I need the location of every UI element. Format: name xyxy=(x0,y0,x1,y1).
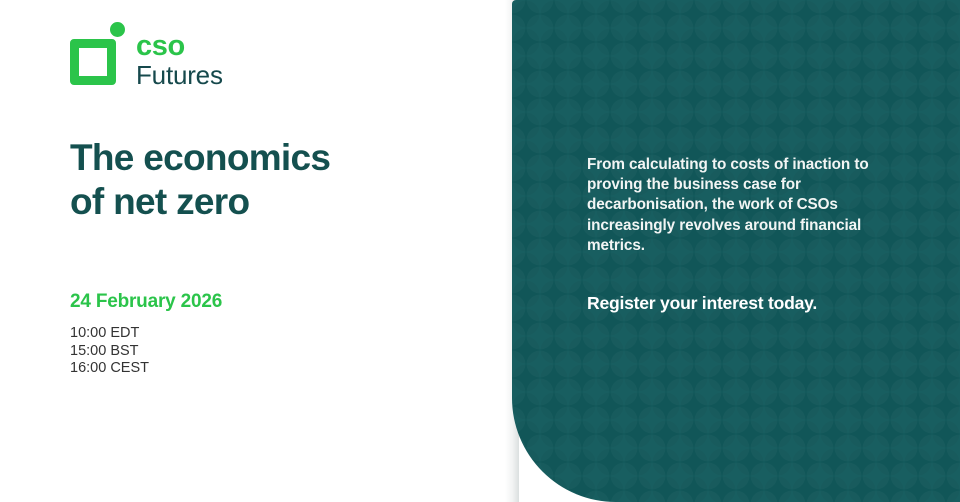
panel-body-text: From calculating to costs of inaction to… xyxy=(587,155,907,256)
webinar-promo-banner: cso Futures The economics of net zero 24… xyxy=(0,0,960,502)
event-times-list: 10:00 EDT 15:00 BST 16:00 CEST xyxy=(70,325,149,378)
panel-copy-block: From calculating to costs of inaction to… xyxy=(587,155,907,314)
event-date: 24 February 2026 xyxy=(70,291,222,313)
event-time-edt: 10:00 EDT xyxy=(70,325,149,343)
right-teal-panel: From calculating to costs of inaction to… xyxy=(512,0,960,502)
left-info-pane: cso Futures The economics of net zero 24… xyxy=(0,0,512,502)
brand-name-primary: cso xyxy=(136,32,223,61)
logo-square-icon xyxy=(70,39,116,85)
brand-name-secondary: Futures xyxy=(136,62,223,88)
brand-logo[interactable]: cso Futures xyxy=(70,19,223,88)
logo-dot-icon xyxy=(110,22,125,37)
brand-logo-text: cso Futures xyxy=(136,19,223,88)
event-time-cest: 16:00 CEST xyxy=(70,360,149,378)
page-title: The economics of net zero xyxy=(70,136,470,223)
event-time-bst: 15:00 BST xyxy=(70,343,149,361)
register-cta-text[interactable]: Register your interest today. xyxy=(587,292,907,314)
cso-futures-logo-mark-icon xyxy=(70,19,114,85)
